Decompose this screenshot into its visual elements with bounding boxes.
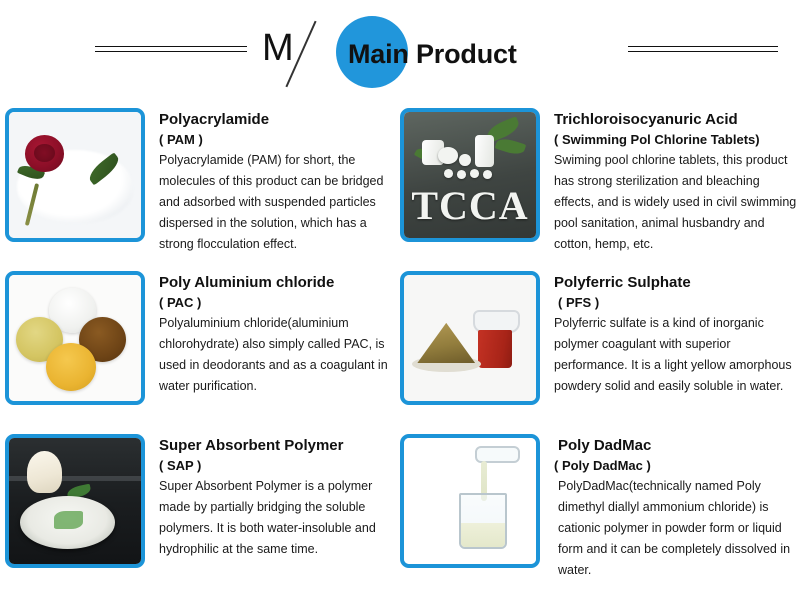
white-crystals-on-plate-photo — [9, 438, 141, 564]
product-title: Trichloroisocyanuric Acid — [554, 110, 798, 130]
product-thumbnail — [400, 271, 540, 405]
page-header: M Main Product — [0, 0, 800, 100]
product-subtitle: ( Poly DadMac ) — [554, 456, 798, 476]
product-description: Polyacrylamide (PAM) for short, the mole… — [159, 150, 397, 255]
product-text: Polyacrylamide ( PAM ) Polyacrylamide (P… — [145, 108, 397, 255]
product-thumbnail: TCCA — [400, 108, 540, 242]
product-subtitle: ( Swimming Pol Chlorine Tablets) — [554, 130, 798, 150]
product-title: Super Absorbent Polymer — [159, 436, 397, 456]
product-thumbnail — [5, 434, 145, 568]
product-card: Polyferric Sulphate ( PFS ) Polyferric s… — [400, 271, 798, 434]
petri-dishes-powders-photo — [9, 275, 141, 401]
product-description: Polyferric sulfate is a kind of inorgani… — [554, 313, 798, 397]
tcca-tablets-photo: TCCA — [404, 112, 536, 238]
thumbnail-caption: TCCA — [409, 180, 530, 230]
page-title: Main Product — [348, 38, 517, 70]
header-monogram: M — [262, 25, 294, 71]
product-subtitle: ( PAC ) — [159, 293, 397, 313]
product-description: Super Absorbent Polymer is a polymer mad… — [159, 476, 397, 560]
product-text: Trichloroisocyanuric Acid ( Swimming Pol… — [540, 108, 798, 255]
header-rule-left — [95, 46, 247, 52]
beaker-liquid-pour-photo — [404, 438, 536, 564]
product-text: Poly DadMac ( Poly DadMac ) PolyDadMac(t… — [540, 434, 798, 581]
product-thumbnail — [400, 434, 540, 568]
product-card: Poly Aluminium chloride ( PAC ) Polyalum… — [5, 271, 397, 434]
product-card: Super Absorbent Polymer ( SAP ) Super Ab… — [5, 434, 397, 600]
product-thumbnail — [5, 271, 145, 405]
product-text: Super Absorbent Polymer ( SAP ) Super Ab… — [145, 434, 397, 560]
rose-on-white-powder-photo — [9, 112, 141, 238]
product-subtitle: ( SAP ) — [159, 456, 397, 476]
product-card: Poly DadMac ( Poly DadMac ) PolyDadMac(t… — [400, 434, 798, 600]
product-description: PolyDadMac(technically named Poly dimeth… — [554, 476, 798, 581]
product-thumbnail — [5, 108, 145, 242]
product-title: Polyferric Sulphate — [554, 273, 798, 293]
product-description: Polyaluminium chloride(aluminium chloroh… — [159, 313, 397, 397]
product-text: Polyferric Sulphate ( PFS ) Polyferric s… — [540, 271, 798, 397]
product-title: Polyacrylamide — [159, 110, 397, 130]
product-title: Poly DadMac — [554, 436, 798, 456]
product-card: TCCA Trichloroisocyanuric Acid ( Swimmin… — [400, 108, 798, 271]
product-subtitle: ( PAM ) — [159, 130, 397, 150]
product-text: Poly Aluminium chloride ( PAC ) Polyalum… — [145, 271, 397, 397]
product-description: Swiming pool chlorine tablets, this prod… — [554, 150, 798, 255]
product-title: Poly Aluminium chloride — [159, 273, 397, 293]
product-grid: Polyacrylamide ( PAM ) Polyacrylamide (P… — [0, 100, 800, 600]
product-card: Polyacrylamide ( PAM ) Polyacrylamide (P… — [5, 108, 397, 271]
header-rule-right — [628, 46, 778, 52]
powder-pile-and-red-beaker-photo — [404, 275, 536, 401]
product-subtitle: ( PFS ) — [554, 293, 798, 313]
